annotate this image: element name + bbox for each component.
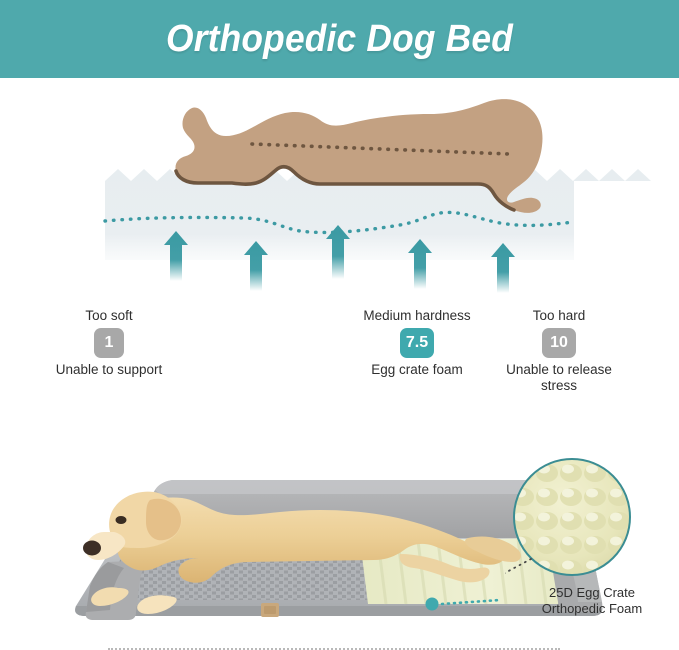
scale-stop-bottom-label: Egg crate foam: [350, 362, 484, 378]
scale-stop-top-label: Medium hardness: [350, 308, 484, 324]
scale-stop-too-soft: Too soft 1 Unable to support: [42, 308, 176, 378]
foam-marker-dot[interactable]: [426, 598, 439, 611]
header-banner: Orthopedic Dog Bed: [0, 0, 679, 78]
scale-stop-top-label: Too hard: [492, 308, 626, 324]
brand-tag: [261, 603, 279, 617]
scale-badge-1: 1: [94, 328, 124, 358]
dog-nose: [83, 541, 101, 556]
scale-stop-bottom-label: Unable to support: [42, 362, 176, 378]
scale-badge-7-5: 7.5: [400, 328, 434, 358]
scale-stop-medium-hardness: Medium hardness 7.5 Egg crate foam: [350, 308, 484, 378]
scale-stop-bottom-label: Unable to release stress: [492, 362, 626, 394]
foam-callout: 25D Egg Crate Orthopedic Foam: [505, 455, 679, 631]
scale-badge-10: 10: [542, 328, 576, 358]
scale-stop-top-label: Too soft: [42, 308, 176, 324]
scale-stop-too-hard: Too hard 10 Unable to release stress: [492, 308, 626, 394]
support-illustration: [0, 78, 679, 298]
support-illustration-svg: [0, 78, 679, 298]
callout-caption-line-2: Orthopedic Foam: [505, 601, 679, 617]
page-title: Orthopedic Dog Bed: [166, 18, 513, 61]
hardness-scale: Too soft 1 Unable to support Medium hard…: [0, 300, 679, 400]
dog-eye: [116, 516, 127, 524]
callout-caption: 25D Egg Crate Orthopedic Foam: [505, 585, 679, 617]
callout-caption-line-1: 25D Egg Crate: [505, 585, 679, 601]
